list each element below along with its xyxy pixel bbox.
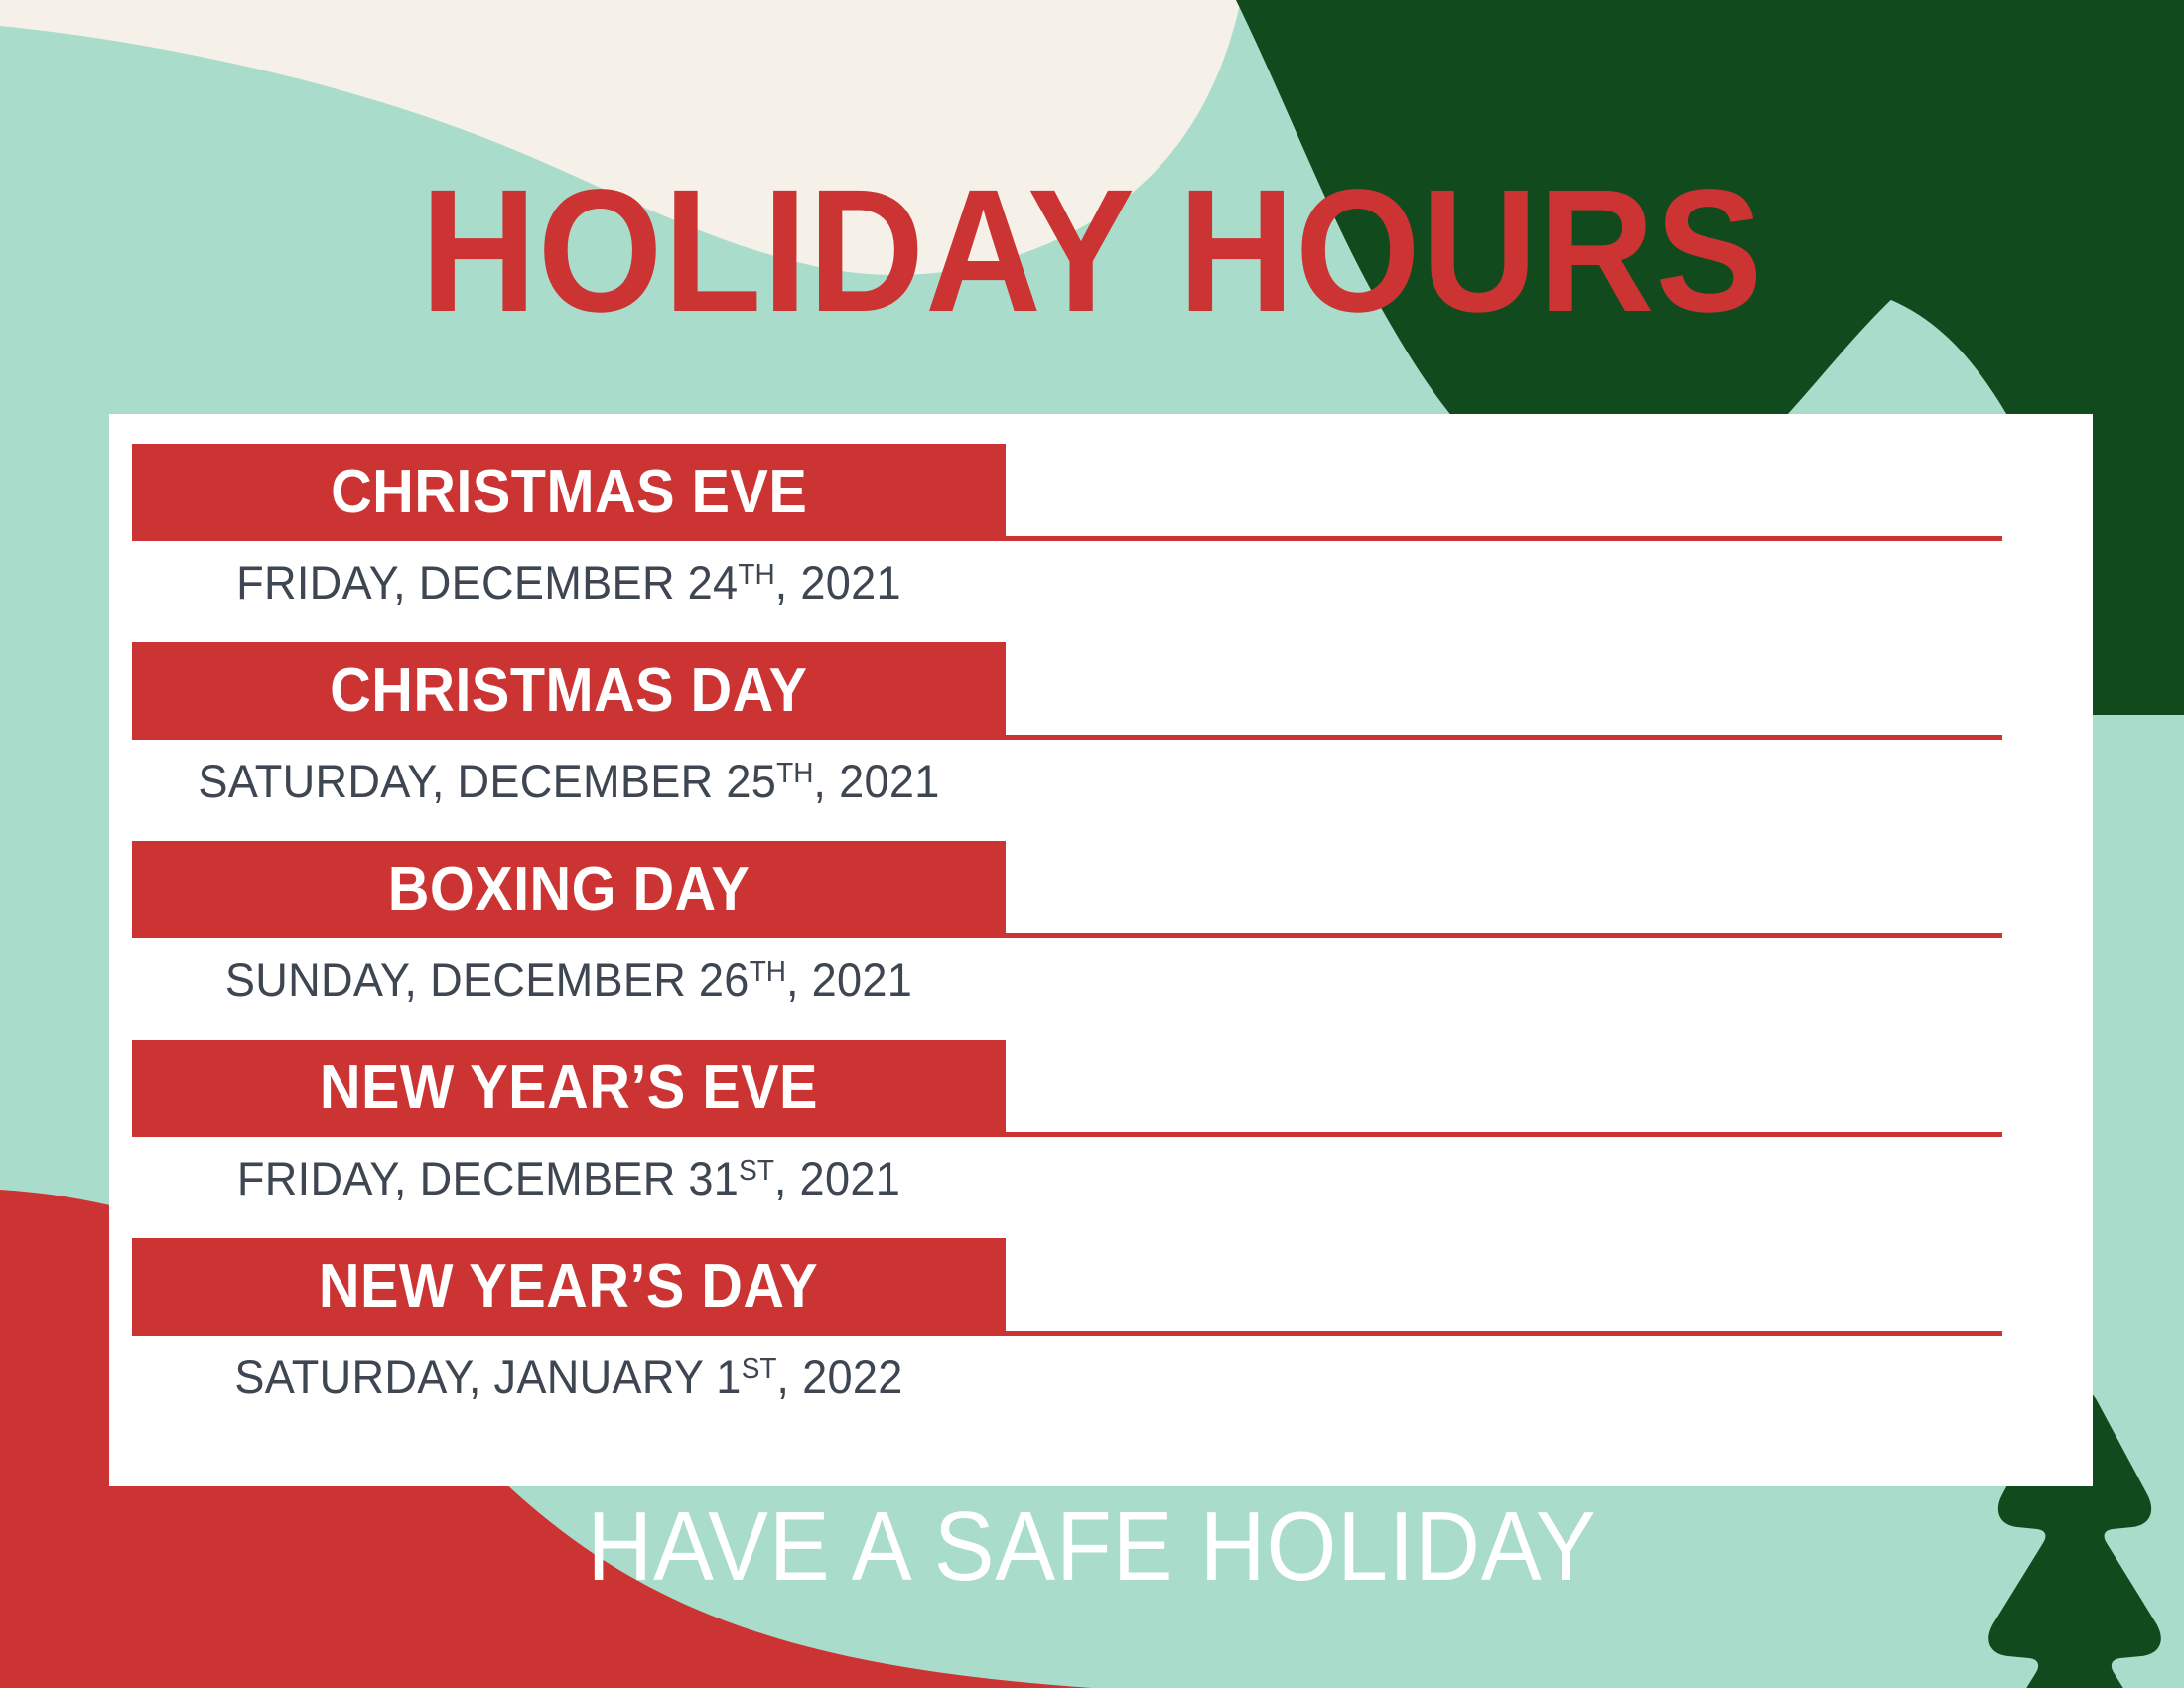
row-rule [1006, 536, 2002, 541]
date-suffix: , 2022 [776, 1350, 902, 1403]
date-prefix: FRIDAY, DECEMBER 24 [236, 556, 738, 609]
holiday-date: SATURDAY, JANUARY 1ST, 2022 [150, 1337, 989, 1409]
holiday-date: FRIDAY, DECEMBER 31ST, 2021 [150, 1139, 989, 1210]
holiday-label: NEW YEAR’S DAY [319, 1256, 818, 1318]
date-prefix: SATURDAY, DECEMBER 25 [198, 755, 776, 807]
holiday-label-bar: BOXING DAY [132, 841, 1006, 938]
date-ordinal: TH [750, 956, 786, 988]
holiday-date: SUNDAY, DECEMBER 26TH, 2021 [150, 940, 989, 1012]
hours-row: BOXING DAY SUNDAY, DECEMBER 26TH, 2021 [109, 841, 2093, 1040]
hours-row: NEW YEAR’S EVE FRIDAY, DECEMBER 31ST, 20… [109, 1040, 2093, 1238]
page-title: HOLIDAY HOURS [87, 164, 2097, 339]
holiday-date: FRIDAY, DECEMBER 24TH, 2021 [150, 543, 989, 615]
holiday-label-bar: NEW YEAR’S EVE [132, 1040, 1006, 1137]
holiday-date: SATURDAY, DECEMBER 25TH, 2021 [150, 742, 989, 813]
date-prefix: FRIDAY, DECEMBER 31 [237, 1152, 739, 1204]
date-prefix: SATURDAY, JANUARY 1 [234, 1350, 741, 1403]
row-rule [1006, 933, 2002, 938]
date-prefix: SUNDAY, DECEMBER 26 [225, 953, 750, 1006]
date-ordinal: TH [738, 559, 774, 591]
date-ordinal: TH [776, 758, 813, 789]
holiday-hours-poster: HOLIDAY HOURS CHRISTMAS EVE FRIDAY, DECE… [0, 0, 2184, 1688]
holiday-label: CHRISTMAS DAY [330, 660, 807, 722]
row-rule [1006, 1331, 2002, 1336]
hours-card: CHRISTMAS EVE FRIDAY, DECEMBER 24TH, 202… [109, 414, 2093, 1486]
date-suffix: , 2021 [786, 953, 912, 1006]
date-ordinal: ST [739, 1155, 774, 1187]
footer-message: HAVE A SAFE HOLIDAY [76, 1497, 2108, 1595]
date-suffix: , 2021 [775, 556, 901, 609]
hours-row: CHRISTMAS DAY SATURDAY, DECEMBER 25TH, 2… [109, 642, 2093, 841]
holiday-label-bar: NEW YEAR’S DAY [132, 1238, 1006, 1336]
date-ordinal: ST [742, 1353, 777, 1385]
holiday-label: NEW YEAR’S EVE [320, 1057, 818, 1119]
row-rule [1006, 1132, 2002, 1137]
holiday-label-bar: CHRISTMAS EVE [132, 444, 1006, 541]
date-suffix: , 2021 [813, 755, 939, 807]
hours-row: CHRISTMAS EVE FRIDAY, DECEMBER 24TH, 202… [109, 444, 2093, 642]
holiday-label: CHRISTMAS EVE [331, 462, 807, 523]
row-rule [1006, 735, 2002, 740]
date-suffix: , 2021 [774, 1152, 900, 1204]
hours-row: NEW YEAR’S DAY SATURDAY, JANUARY 1ST, 20… [109, 1238, 2093, 1437]
holiday-label-bar: CHRISTMAS DAY [132, 642, 1006, 740]
holiday-label: BOXING DAY [388, 859, 751, 920]
